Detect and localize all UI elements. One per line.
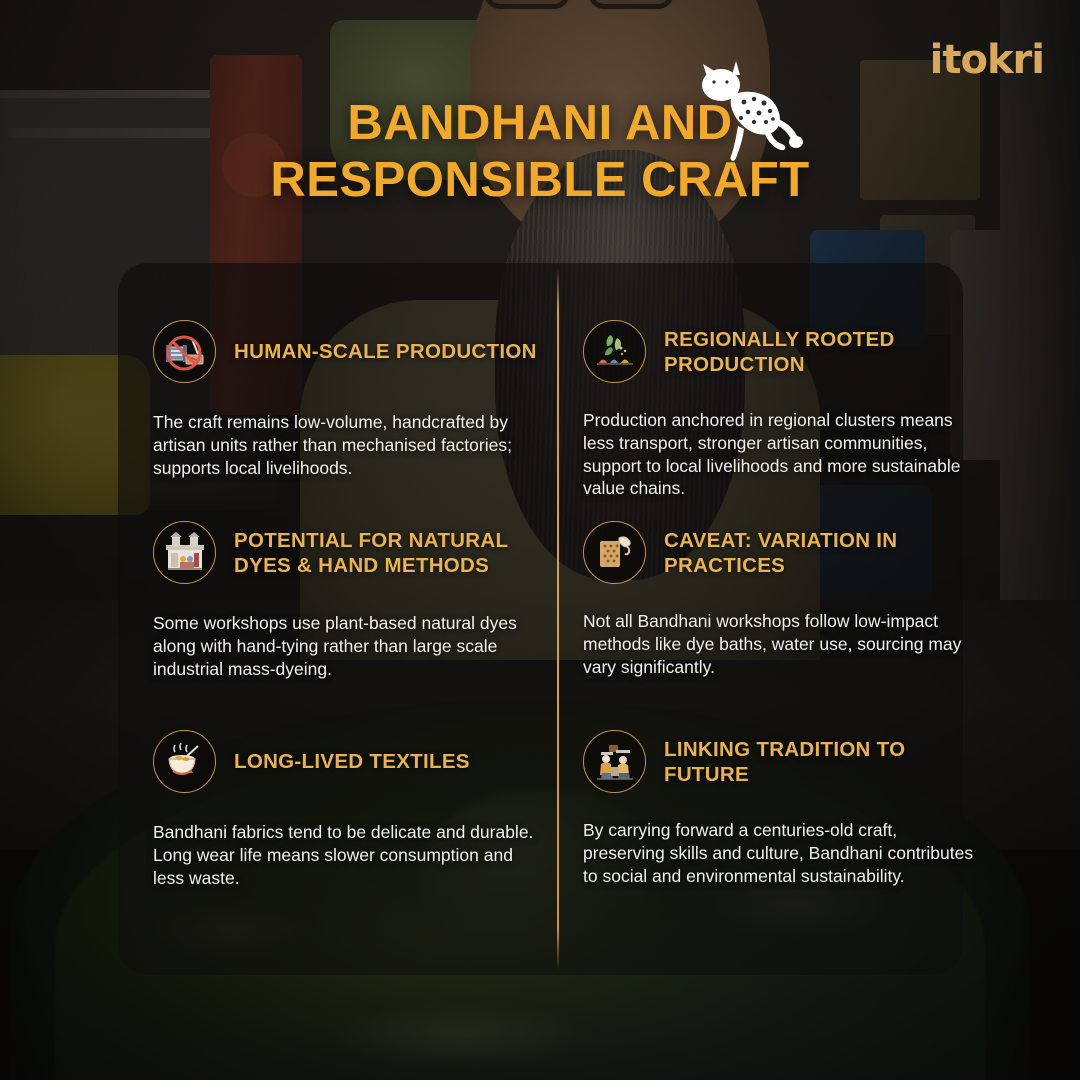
feature-card-human-scale-production[interactable]: HUMAN-SCALE PRODUCTION The craft remains… [153,320,538,479]
feature-card-natural-dyes-hand-methods[interactable]: POTENTIAL FOR NATURAL DYES & HAND METHOD… [153,521,545,680]
card-header: LINKING TRADITION TO FUTURE [583,730,983,793]
card-title: HUMAN-SCALE PRODUCTION [234,339,537,364]
itokri-logo[interactable]: itokri [930,40,1044,80]
feature-card-caveat-variation-in-practices[interactable]: CAVEAT: VARIATION IN PRACTICES Not all B… [583,521,983,678]
card-header: HUMAN-SCALE PRODUCTION [153,320,538,383]
logo-text: itokri [930,37,1044,83]
page-title-line2: RESPONSIBLE CRAFT [0,152,1080,209]
page-title: BANDHANI AND RESPONSIBLE CRAFT [0,95,1080,209]
card-header: CAVEAT: VARIATION IN PRACTICES [583,521,983,584]
two-artisans-working-icon [583,730,646,793]
card-title: CAVEAT: VARIATION IN PRACTICES [664,528,983,578]
card-body: Production anchored in regional clusters… [583,409,983,500]
card-title: LONG-LIVED TEXTILES [234,749,470,774]
plant-leaves-dye-powders-icon [583,320,646,383]
page-title-line1: BANDHANI AND [347,96,732,150]
feature-card-regionally-rooted-production[interactable]: REGIONALLY ROOTED PRODUCTION Production … [583,320,983,500]
feature-card-linking-tradition-to-future[interactable]: LINKING TRADITION TO FUTURE By carrying … [583,730,983,887]
card-header: POTENTIAL FOR NATURAL DYES & HAND METHOD… [153,521,545,584]
spotted-cat-illustration-icon [686,58,806,173]
card-body: By carrying forward a centuries-old craf… [583,819,983,887]
card-body: Bandhani fabrics tend to be delicate and… [153,821,538,889]
card-body: The craft remains low-volume, handcrafte… [153,411,538,479]
card-body: Not all Bandhani workshops follow low-im… [583,610,983,678]
card-title: LINKING TRADITION TO FUTURE [664,737,983,787]
infographic-poster: itokri BANDHANI AND RESPONSIBLE CRAFT [0,0,1080,1080]
steaming-dye-pot-icon [153,730,216,793]
artisan-workshop-building-icon [153,521,216,584]
no-factory-machine-icon [153,320,216,383]
hand-holding-patterned-fabric-icon [583,521,646,584]
card-header: REGIONALLY ROOTED PRODUCTION [583,320,983,383]
card-title: REGIONALLY ROOTED PRODUCTION [664,327,983,377]
feature-card-long-lived-textiles[interactable]: LONG-LIVED TEXTILES Bandhani fabrics ten… [153,730,538,889]
card-title: POTENTIAL FOR NATURAL DYES & HAND METHOD… [234,528,545,578]
card-header: LONG-LIVED TEXTILES [153,730,538,793]
card-body: Some workshops use plant-based natural d… [153,612,545,680]
